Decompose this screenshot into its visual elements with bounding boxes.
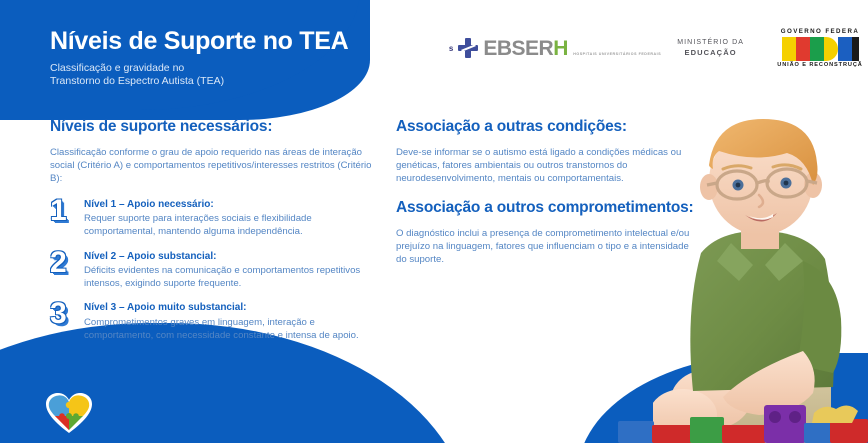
ebserh-wordmark-accent: H (553, 37, 568, 60)
ebserh-wordmark: EBSERH HOSPITAIS UNIVERSITÁRIOS FEDERAIS (483, 38, 661, 59)
logo-bar: s EBSERH HOSPITAIS UNIVERSITÁRIOS FEDERA… (449, 22, 868, 74)
left-column: Níveis de suporte necessários: Classific… (50, 118, 380, 354)
associated-impairments-heading: Associação a outros comprometimentos: (396, 199, 696, 217)
autism-puzzle-heart-logo (44, 392, 94, 434)
level-description: Comprometimentos graves em linguagem, in… (84, 317, 380, 342)
associated-conditions-heading: Associação a outras condições: (396, 118, 696, 136)
level-number: 3 (50, 300, 84, 328)
level-description: Requer suporte para interações sociais e… (84, 213, 380, 238)
ebserh-logo: s EBSERH HOSPITAIS UNIVERSITÁRIOS FEDERA… (449, 38, 661, 59)
ministry-of-education-logo: MINISTÉRIO DA EDUCAÇÃO (677, 38, 744, 58)
page-title: Níveis de Suporte no TEA (50, 28, 348, 56)
ministry-line-1: MINISTÉRIO DA (677, 38, 744, 47)
associated-conditions-body: Deve-se informar se o autismo está ligad… (396, 147, 696, 186)
ebserh-wordmark-main: EBSER (483, 37, 553, 60)
page-subtitle-line-2: Transtorno do Espectro Autista (TEA) (50, 75, 224, 87)
brasil-wordmark-icon (760, 37, 868, 61)
right-column: Associação a outras condições: Deve-se i… (396, 118, 696, 280)
level-title: Nível 1 – Apoio necessário: (84, 199, 380, 212)
medical-cross-icon (458, 38, 478, 58)
level-number: 2 (50, 249, 84, 277)
government-top-text: GOVERNO FEDERA (760, 28, 868, 35)
ebserh-s-letter: s (449, 44, 453, 53)
support-level-item: 2 Nível 2 – Apoio substancial: Déficits … (50, 251, 380, 291)
page-subtitle: Classificação e gravidade no Transtorno … (50, 62, 348, 88)
level-title: Nível 3 – Apoio muito substancial: (84, 302, 380, 315)
page-subtitle-line-1: Classificação e gravidade no (50, 62, 184, 74)
support-level-item: 3 Nível 3 – Apoio muito substancial: Com… (50, 302, 380, 342)
toy-blocks (618, 395, 868, 443)
left-column-intro: Classificação conforme o grau de apoio r… (50, 147, 380, 186)
support-level-item: 1 Nível 1 – Apoio necessário: Requer sup… (50, 199, 380, 239)
associated-impairments-body: O diagnóstico inclui a presença de compr… (396, 228, 696, 267)
infographic-page: Níveis de Suporte no TEA Classificação e… (0, 0, 868, 443)
ebserh-tagline: HOSPITAIS UNIVERSITÁRIOS FEDERAIS (573, 52, 661, 56)
level-number: 1 (50, 197, 84, 225)
federal-government-logo: GOVERNO FEDERA UNIÃO E RECONSTRUÇÃ (760, 28, 868, 68)
government-bottom-text: UNIÃO E RECONSTRUÇÃ (760, 62, 868, 68)
level-description: Déficits evidentes na comunicação e comp… (84, 265, 380, 290)
level-title: Nível 2 – Apoio substancial: (84, 251, 380, 264)
left-column-heading: Níveis de suporte necessários: (50, 118, 380, 136)
header-text-block: Níveis de Suporte no TEA Classificação e… (50, 28, 348, 88)
ministry-line-2: EDUCAÇÃO (677, 48, 744, 58)
